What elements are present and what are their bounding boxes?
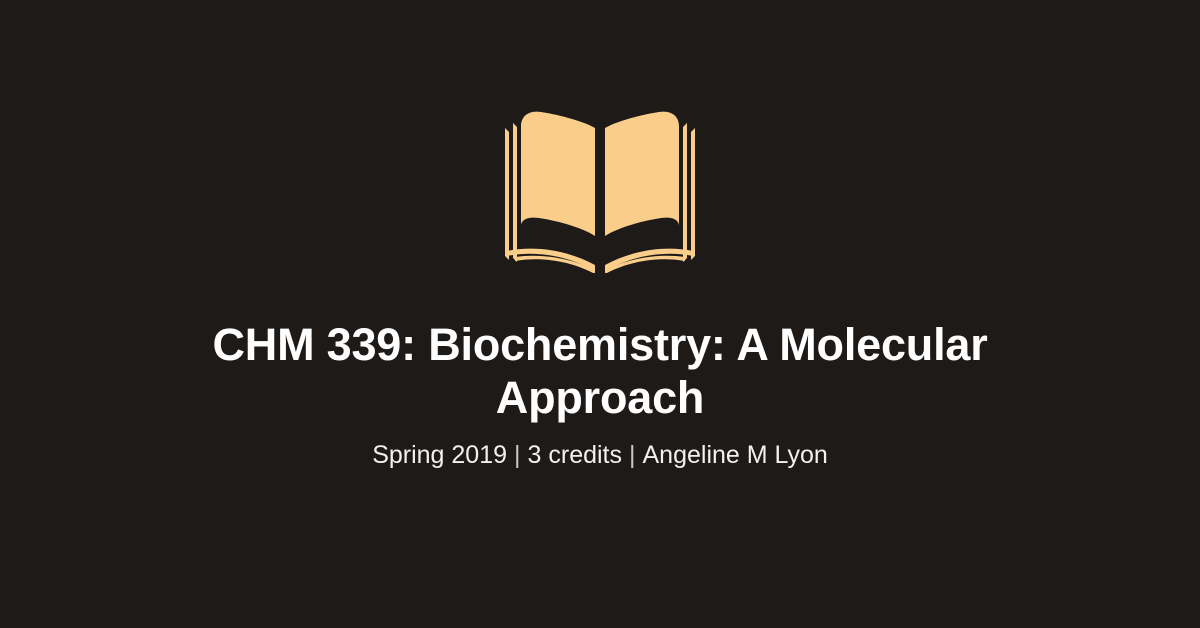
meta-separator-1: | bbox=[507, 441, 528, 469]
course-card: CHM 339: Biochemistry: A Molecular Appro… bbox=[0, 0, 1200, 628]
meta-separator-2: | bbox=[622, 441, 643, 469]
course-text-block: CHM 339: Biochemistry: A Molecular Appro… bbox=[0, 318, 1200, 470]
course-instructor: Angeline M Lyon bbox=[643, 441, 828, 469]
course-term: Spring 2019 bbox=[372, 441, 507, 469]
open-book-icon bbox=[495, 108, 705, 273]
course-credits: 3 credits bbox=[528, 441, 622, 469]
open-book-icon-container bbox=[0, 108, 1200, 273]
course-meta: Spring 2019|3 credits|Angeline M Lyon bbox=[80, 440, 1120, 470]
page-title: CHM 339: Biochemistry: A Molecular Appro… bbox=[160, 318, 1040, 424]
